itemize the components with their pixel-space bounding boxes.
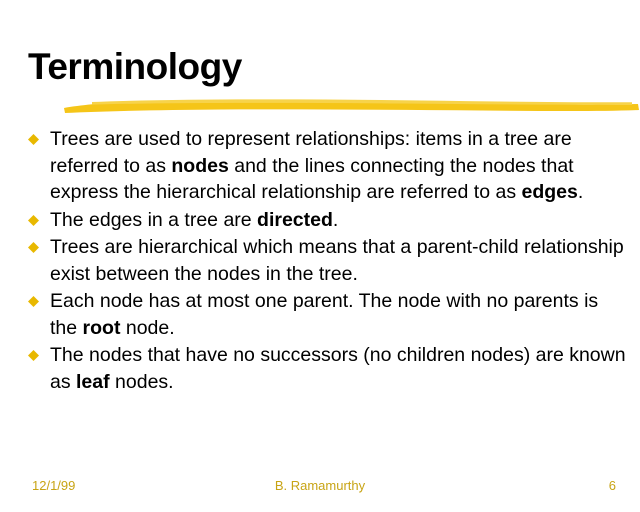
bullet-list: Trees are used to represent relationship… (28, 126, 628, 396)
list-item: Trees are used to represent relationship… (28, 126, 628, 206)
footer-page-number: 6 (609, 478, 616, 493)
list-item-text: Each node has at most one parent. The no… (50, 288, 628, 341)
diamond-bullet-icon (28, 288, 50, 307)
list-item-text: The nodes that have no successors (no ch… (50, 342, 628, 395)
diamond-bullet-icon (28, 342, 50, 361)
list-item-text: The edges in a tree are directed. (50, 207, 628, 234)
slide: Terminology Trees are used to represent … (0, 0, 640, 512)
diamond-bullet-icon (28, 234, 50, 253)
footer-author: B. Ramamurthy (0, 478, 640, 493)
list-item: The edges in a tree are directed. (28, 207, 628, 234)
diamond-bullet-icon (28, 126, 50, 145)
slide-footer: 12/1/99 B. Ramamurthy 6 (0, 478, 640, 500)
page-title: Terminology (28, 48, 242, 85)
title-underline-brushstroke (62, 97, 640, 114)
diamond-bullet-icon (28, 207, 50, 226)
list-item: The nodes that have no successors (no ch… (28, 342, 628, 395)
list-item: Trees are hierarchical which means that … (28, 234, 628, 287)
list-item-text: Trees are hierarchical which means that … (50, 234, 628, 287)
list-item-text: Trees are used to represent relationship… (50, 126, 628, 206)
list-item: Each node has at most one parent. The no… (28, 288, 628, 341)
